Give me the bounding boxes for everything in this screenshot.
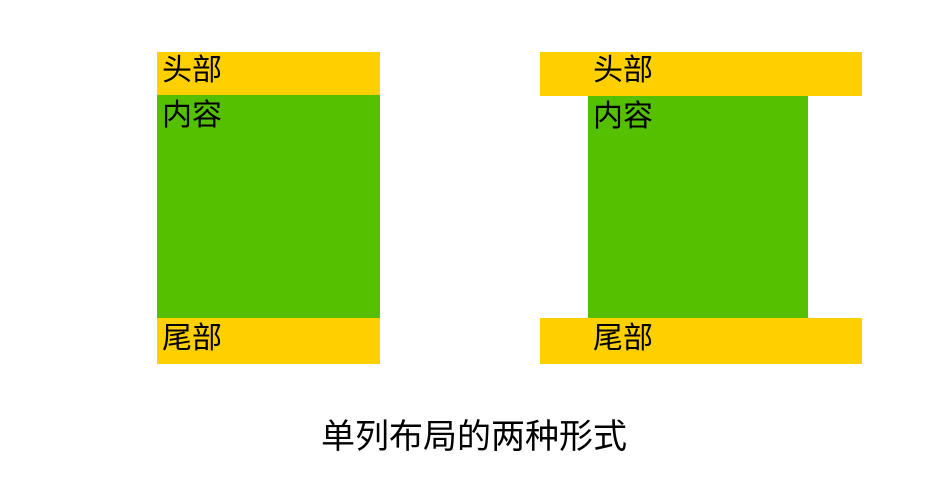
diagram-single-column-wide-header-footer: 头部 内容 尾部 (540, 52, 862, 364)
figure-caption: 单列布局的两种形式 (0, 415, 948, 459)
diagram-b-footer-label: 尾部 (593, 324, 653, 354)
diagram-a-footer-label: 尾部 (162, 324, 222, 354)
diagram-b-header-block (540, 52, 862, 96)
diagram-b-footer-block (540, 318, 862, 364)
diagram-a-content-label: 内容 (162, 101, 222, 131)
diagram-b-content-label: 内容 (593, 102, 653, 132)
diagram-b-header-label: 头部 (593, 56, 653, 86)
diagram-single-column-equal-width: 头部 内容 尾部 (157, 52, 380, 364)
diagram-a-header-label: 头部 (162, 56, 222, 86)
figure-canvas: 头部 内容 尾部 头部 内容 尾部 单列布局的两种形式 (0, 0, 948, 488)
